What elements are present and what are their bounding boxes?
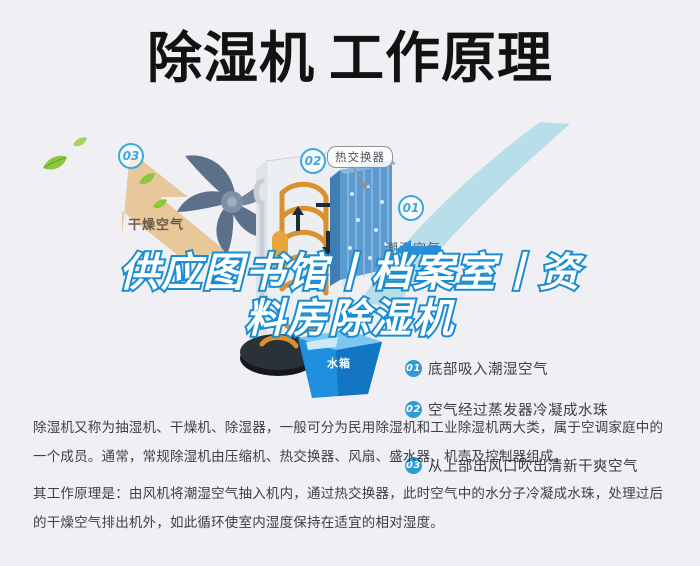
working-principle-illustration: 干燥空气 03 [0,110,700,400]
badge-03: 03 [118,143,144,169]
step-01: 01 底部吸入潮湿空气 [405,358,548,379]
water-tank-label: 水箱 [327,355,351,371]
page-title: 除湿机工作原理 [0,18,700,98]
title-part-1: 除湿机 [147,26,315,90]
paragraph-2: 其工作原理是：由风机将潮湿空气抽入机内，通过热交换器，此时空气中的水分子冷凝成水… [33,480,669,538]
leaf-icon [152,198,168,210]
badge-01: 01 [398,195,424,221]
leaf-icon [138,172,156,186]
paragraph-1: 除湿机又称为抽湿机、干燥机、除湿器，一般可分为民用除湿机和工业除湿机两大类，属于… [33,414,669,472]
callout-pointer-icon [350,166,376,190]
air-intake-arrow-icon [395,238,441,262]
step-01-number: 01 [405,360,422,377]
badge-02: 02 [300,148,326,174]
title-part-2: 工作原理 [329,26,553,90]
body-copy: 除湿机又称为抽湿机、干燥机、除湿器，一般可分为民用除湿机和工业除湿机两大类，属于… [33,414,669,546]
leaf-icon [72,136,88,148]
step-01-text: 底部吸入潮湿空气 [428,358,548,379]
dehumidifier-infographic: 除湿机工作原理 干燥空气 03 [0,0,700,566]
leaf-icon [42,154,68,172]
heat-exchanger-callout: 热交换器 [327,146,393,168]
